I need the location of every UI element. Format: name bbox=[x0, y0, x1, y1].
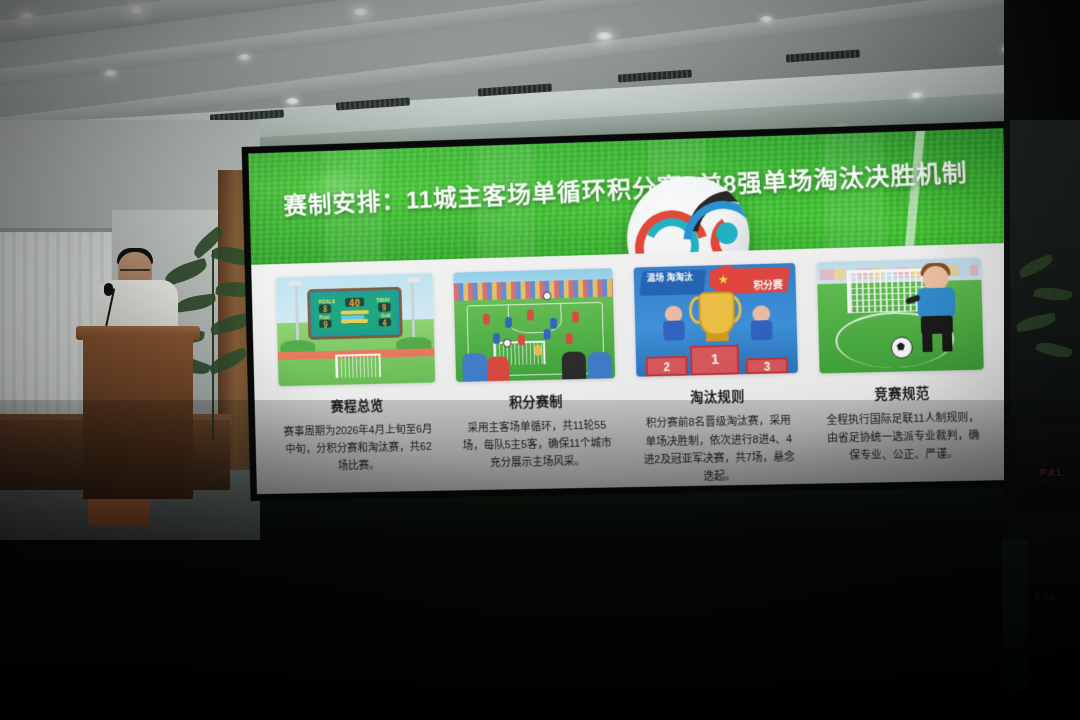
conference-room-photo: 赛制安排：11城主客场单循环积分赛+前8强单场淘汰决胜机制 bbox=[0, 0, 1080, 720]
podium-rank-1: 1 bbox=[690, 345, 739, 376]
downlight-icon bbox=[104, 70, 117, 77]
downlight-icon bbox=[596, 32, 613, 41]
podium-rank-2: 2 bbox=[646, 356, 688, 377]
kid-left bbox=[660, 306, 686, 346]
downlight-icon bbox=[760, 16, 773, 23]
audience-shadow-overlay bbox=[0, 400, 1080, 720]
scoreboard-illustration: FOALS TIRAY Puet Ooff 8 9 9 4 40 bbox=[276, 273, 435, 386]
sb-away-score: 9 bbox=[378, 303, 390, 311]
pitch-players-illustration bbox=[453, 268, 615, 382]
sb-home-score: 8 bbox=[319, 305, 331, 313]
downlight-icon bbox=[128, 6, 145, 15]
referee-illustration bbox=[817, 258, 984, 374]
sb-score3: 9 bbox=[319, 320, 331, 328]
glasses-icon bbox=[120, 269, 150, 276]
downlight-icon bbox=[286, 98, 299, 105]
downlight-icon bbox=[352, 8, 369, 17]
downlight-icon bbox=[18, 12, 35, 21]
sb-clock: 40 bbox=[345, 297, 365, 307]
microphone-icon bbox=[104, 283, 113, 296]
referee-figure bbox=[909, 265, 967, 352]
podium-rank-3: 3 bbox=[746, 357, 789, 375]
kid-right bbox=[748, 306, 774, 346]
trophy-podium-illustration: ★ 温场 淘淘汰 积分赛 bbox=[634, 263, 798, 377]
downlight-icon bbox=[910, 92, 923, 99]
sb-score4: 4 bbox=[378, 318, 390, 326]
card3-banner-right: 积分赛 bbox=[753, 277, 783, 293]
card3-banner-left: 温场 淘淘汰 bbox=[647, 271, 693, 282]
downlight-icon bbox=[238, 54, 251, 61]
trophy-icon bbox=[699, 291, 736, 336]
